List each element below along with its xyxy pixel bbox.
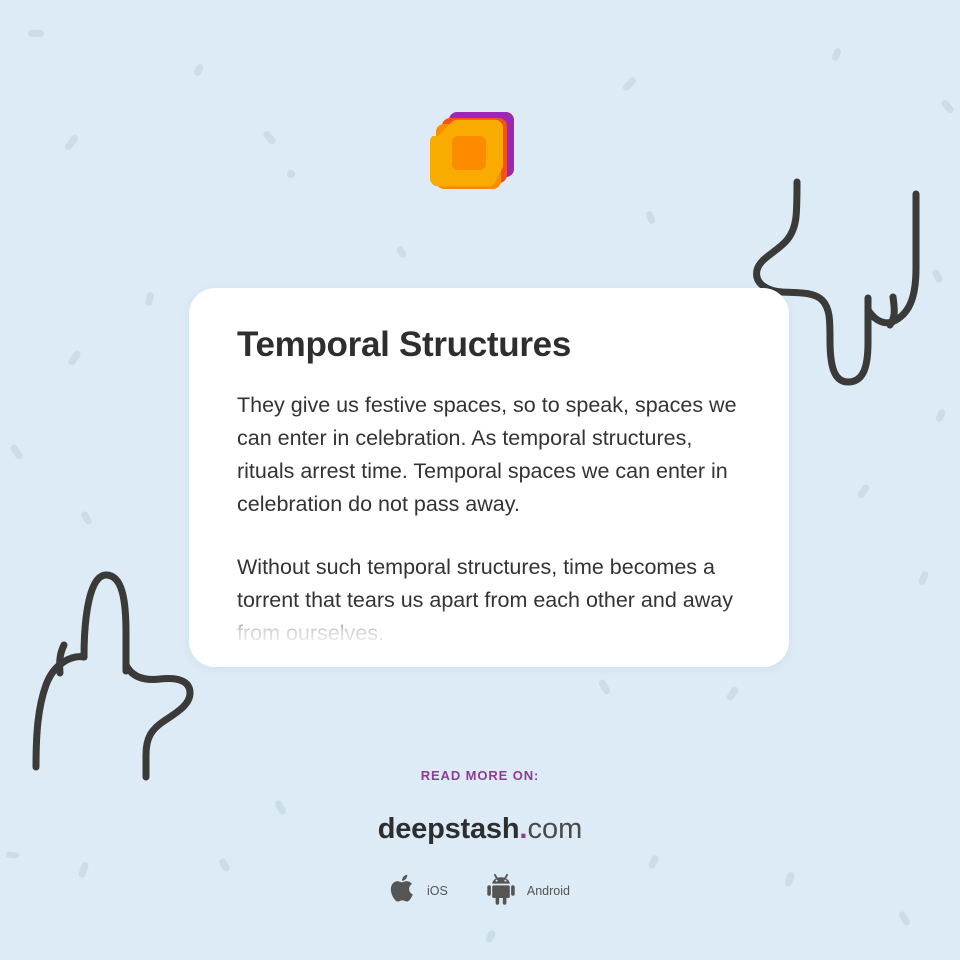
confetti-dash [484,929,497,944]
confetti-dash [940,99,955,115]
confetti-dash [645,210,656,225]
brand-wordmark[interactable]: deepstash.com [0,813,960,846]
android-icon [484,872,518,910]
read-more-label: READ MORE ON: [0,768,960,783]
confetti-dash [918,570,930,586]
store-badges: iOS [0,872,960,910]
brand-tld: com [527,813,582,845]
confetti-dash [395,245,407,259]
footer: READ MORE ON: deepstash.com iOS [0,768,960,910]
deepstash-logo [430,104,516,198]
confetti-dash [64,134,80,152]
confetti-dash [856,483,870,499]
page-title: Temporal Structures [237,324,741,365]
confetti-dash [80,510,93,526]
idea-paragraph: They give us festive spaces, so to speak… [237,389,741,521]
confetti-dash [193,63,204,77]
confetti-dash [287,170,295,178]
brand-name: deepstash [378,813,520,845]
idea-card[interactable]: Temporal Structures They give us festive… [189,288,789,667]
confetti-dash [67,349,82,366]
confetti-dash [622,76,638,93]
idea-card-content: Temporal Structures They give us festive… [189,288,789,650]
confetti-dash [726,685,740,701]
confetti-dash [262,130,277,146]
confetti-dash [831,47,842,62]
confetti-dash [935,408,947,423]
confetti-dash [145,291,155,306]
confetti-dash [9,443,24,460]
store-badge-android[interactable]: Android [484,872,570,910]
store-label-ios: iOS [427,884,448,898]
post-canvas: Temporal Structures They give us festive… [0,0,960,960]
confetti-dash [28,30,44,38]
store-label-android: Android [527,884,570,898]
apple-icon [390,872,418,910]
confetti-dash [597,678,611,695]
store-badge-ios[interactable]: iOS [390,872,448,910]
idea-paragraph: Without such temporal structures, time b… [237,551,741,650]
confetti-dash [931,268,944,284]
confetti-dash [898,910,912,926]
